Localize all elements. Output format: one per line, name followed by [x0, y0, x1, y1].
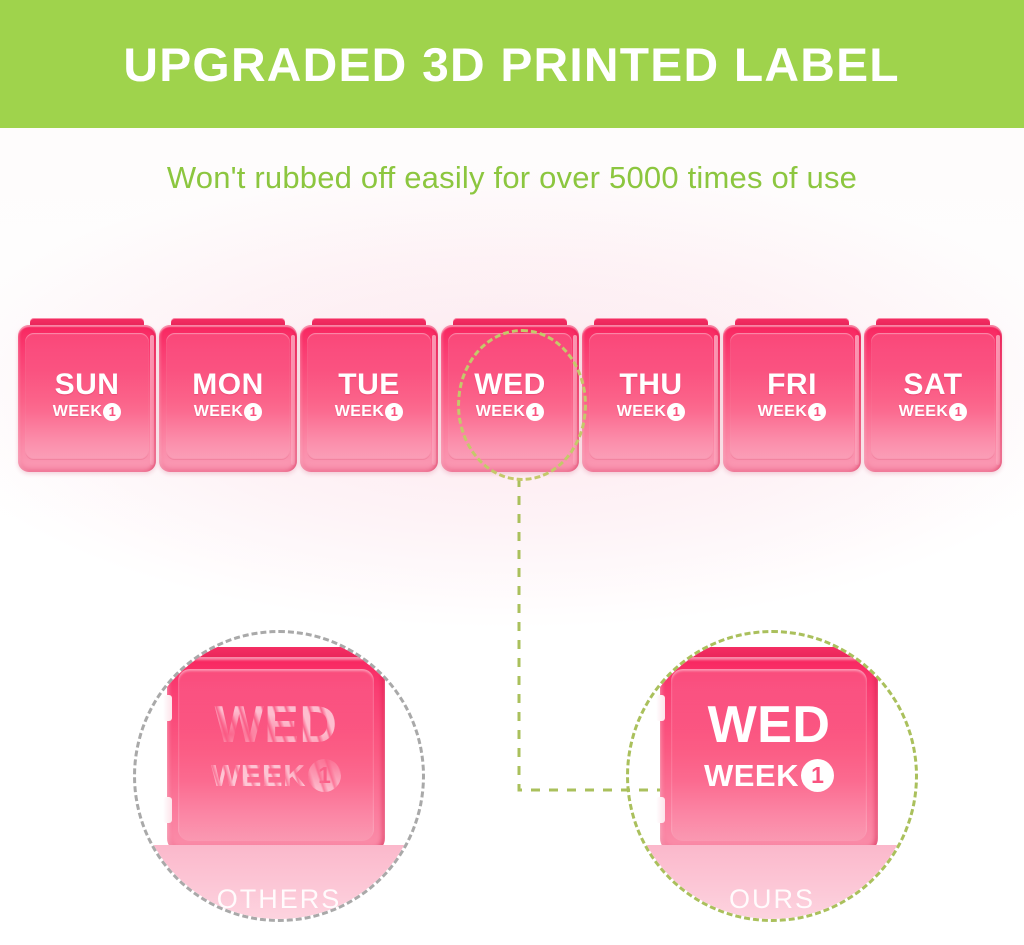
week-label: WEEK [194, 404, 244, 420]
crisp-label: WED WEEK 1 [660, 699, 878, 792]
header-banner: UPGRADED 3D PRINTED LABEL [0, 0, 1024, 128]
comparison-circle-ours: WED WEEK 1 OURS [626, 630, 918, 922]
day-text: WED [215, 699, 338, 751]
week-number-badge: 1 [801, 759, 834, 792]
week-label: WEEK [704, 760, 799, 791]
day-text: TUE [338, 370, 400, 400]
week-row: WEEK 1 [211, 759, 341, 792]
lid-clip-bottom [163, 797, 172, 823]
pill-box-fri[interactable]: FRI WEEK 1 [723, 318, 861, 472]
week-row: WEEK 1 [194, 403, 263, 421]
day-text: WED [474, 370, 546, 400]
week-number-badge: 1 [385, 403, 403, 421]
page-title: UPGRADED 3D PRINTED LABEL [124, 41, 900, 88]
pill-box-sun[interactable]: SUN WEEK 1 [18, 318, 156, 472]
week-label: WEEK [758, 404, 808, 420]
caption-ours: OURS [629, 886, 915, 913]
day-text: FRI [767, 370, 817, 400]
subtitle-text: Won't rubbed off easily for over 5000 ti… [0, 160, 1024, 196]
day-text: SAT [903, 370, 962, 400]
lid-label: WED WEEK 1 [441, 318, 579, 472]
pill-box-mon[interactable]: MON WEEK 1 [159, 318, 297, 472]
lid-label: SAT WEEK 1 [864, 318, 1002, 472]
week-row: WEEK 1 [476, 403, 545, 421]
week-label: WEEK [335, 404, 385, 420]
caption-others: OTHERS [136, 886, 422, 913]
week-label: WEEK [211, 760, 306, 791]
day-text: SUN [55, 370, 120, 400]
week-row: WEEK 1 [704, 759, 834, 792]
week-row: WEEK 1 [335, 403, 404, 421]
pill-box-tue[interactable]: TUE WEEK 1 [300, 318, 438, 472]
day-text: WED [708, 699, 831, 751]
pill-box-thu[interactable]: THU WEEK 1 [582, 318, 720, 472]
week-number-badge: 1 [103, 403, 121, 421]
week-label: WEEK [899, 404, 949, 420]
week-number-badge: 1 [244, 403, 262, 421]
week-number-badge: 1 [808, 403, 826, 421]
pill-box-sat[interactable]: SAT WEEK 1 [864, 318, 1002, 472]
lid-label: MON WEEK 1 [159, 318, 297, 472]
lid-label: SUN WEEK 1 [18, 318, 156, 472]
week-label: WEEK [53, 404, 103, 420]
week-row: WEEK 1 [53, 403, 122, 421]
week-label: WEEK [617, 404, 667, 420]
week-row: WEEK 1 [899, 403, 968, 421]
lid-clip-bottom [656, 797, 665, 823]
week-row: WEEK 1 [617, 403, 686, 421]
week-number-badge: 1 [949, 403, 967, 421]
week-number-badge: 1 [667, 403, 685, 421]
week-number-badge: 1 [526, 403, 544, 421]
week-row: WEEK 1 [758, 403, 827, 421]
pill-box-wed[interactable]: WED WEEK 1 [441, 318, 579, 472]
day-text: MON [192, 370, 264, 400]
worn-label: WED WEEK 1 [167, 699, 385, 792]
week-label: WEEK [476, 404, 526, 420]
infographic-page: UPGRADED 3D PRINTED LABEL Won't rubbed o… [0, 0, 1024, 945]
pill-organizer-tray: SUN WEEK 1 MON WEEK 1 [18, 318, 1006, 472]
lid-label: THU WEEK 1 [582, 318, 720, 472]
lid-label: TUE WEEK 1 [300, 318, 438, 472]
lid-label: FRI WEEK 1 [723, 318, 861, 472]
week-number-badge: 1 [308, 759, 341, 792]
comparison-circle-others: WED WEEK 1 OTHERS [133, 630, 425, 922]
day-text: THU [619, 370, 682, 400]
